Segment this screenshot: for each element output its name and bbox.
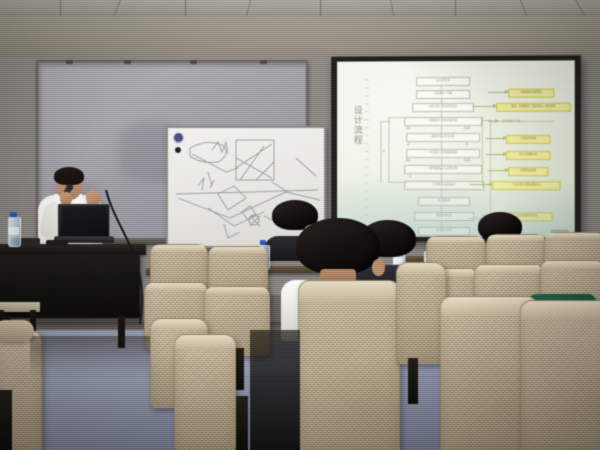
water-bottle-podium [8, 212, 19, 245]
slide-callout: 规范、荷载规范、抗震规范、地基规范 [496, 103, 571, 112]
flow-node: 荷载计算与内力分析 [406, 133, 480, 142]
loop-label: 否 [382, 149, 385, 153]
flow-node: 设计任务书 [416, 77, 470, 86]
chair[interactable] [298, 280, 398, 450]
slide-vertical-title: 设计流程 [348, 105, 364, 145]
power-cable [104, 190, 106, 320]
slide-callout: 配筋构造要求 [508, 167, 548, 176]
flow-decision: 是 [400, 142, 416, 147]
chair-arm [0, 320, 34, 342]
chair-leg [408, 358, 418, 404]
flow-decision: 满足 [400, 158, 416, 163]
flow-node: 初步方案 / 技术经济比较 [412, 103, 474, 112]
row-gap-shadow [30, 336, 150, 376]
flow-decision: 不满足 [458, 126, 476, 131]
projected-slide: 设计流程 设计任务书 方案构思 / 草图 初步方案 [337, 60, 575, 237]
chair-leg [236, 348, 244, 390]
row-gap-shadow [250, 330, 300, 450]
slide-callout: 内力包络图分析 [506, 151, 550, 160]
presenter-hair [54, 167, 84, 185]
projection-screen: 设计流程 设计任务书 方案构思 / 草图 初步方案 [331, 55, 581, 243]
slide-callout: 明确建筑功能要求 [508, 89, 554, 98]
flow-node: 方案构思 / 草图 [416, 90, 470, 99]
flow-node: 内力组合与控制截面选取 [406, 149, 480, 158]
chair[interactable] [520, 300, 600, 450]
chair-leg [236, 396, 248, 450]
chair[interactable] [396, 262, 444, 362]
flow-node: 结构选型与结构布置方案 [404, 117, 482, 126]
chair-leg [0, 390, 12, 450]
flow-decision: 满足 [400, 126, 416, 131]
podium-clutter [46, 240, 68, 246]
flow-decision: 否 [458, 142, 476, 147]
chair[interactable] [174, 334, 234, 450]
flow-node: 构件截面设计与配筋计算 [404, 165, 482, 174]
classroom-scene: 设计流程 设计任务书 方案构思 / 草图 初步方案 [0, 0, 600, 450]
slide-callout: 计算软件建模 [506, 135, 550, 144]
flow-decision: 不满足 [458, 158, 476, 163]
